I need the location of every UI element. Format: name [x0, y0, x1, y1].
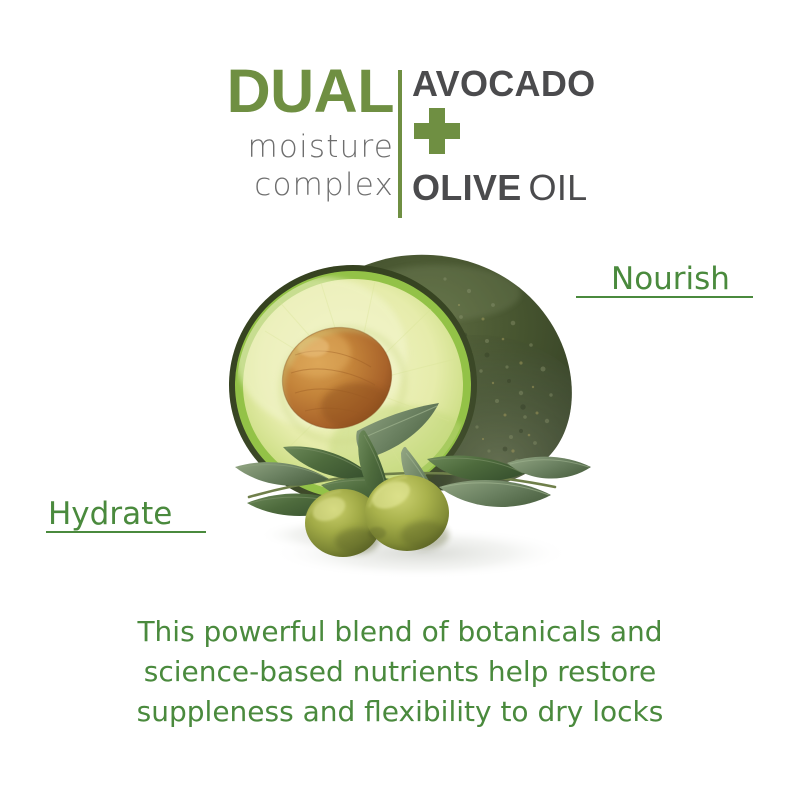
- description-line-3: suppleness and flexibility to dry locks: [0, 692, 800, 732]
- plus-icon: [414, 108, 460, 154]
- logo-complex-word: complex: [254, 168, 394, 202]
- logo-olive-oil-line: OLIVEOIL: [412, 168, 587, 208]
- logo-avocado-word: AVOCADO: [412, 64, 595, 104]
- brand-logo-lockup: DUAL moisture complex AVOCADO OLIVEOIL: [0, 62, 800, 222]
- logo-left-column: DUAL moisture complex: [202, 62, 394, 222]
- olive-fruit-right: [365, 475, 449, 551]
- logo-vertical-divider: [398, 70, 402, 218]
- avocado-olive-product-image: [225, 235, 595, 595]
- logo-moisture-word: moisture: [248, 130, 394, 164]
- logo-dual-word: DUAL: [227, 60, 394, 122]
- callout-hydrate-underline: [46, 531, 206, 533]
- logo-right-column: AVOCADO OLIVEOIL: [412, 62, 612, 222]
- description-line-2: science-based nutrients help restore: [0, 652, 800, 692]
- callout-nourish: Nourish: [611, 262, 730, 296]
- logo-oil-word: OIL: [529, 167, 588, 208]
- callout-nourish-underline: [576, 296, 753, 298]
- description-paragraph: This powerful blend of botanicals and sc…: [0, 612, 800, 732]
- product-infographic: DUAL moisture complex AVOCADO OLIVEOIL: [0, 0, 800, 800]
- callout-hydrate: Hydrate: [48, 497, 172, 531]
- produce-illustration: [225, 235, 595, 595]
- logo-olive-word: OLIVE: [412, 167, 522, 208]
- description-line-1: This powerful blend of botanicals and: [0, 612, 800, 652]
